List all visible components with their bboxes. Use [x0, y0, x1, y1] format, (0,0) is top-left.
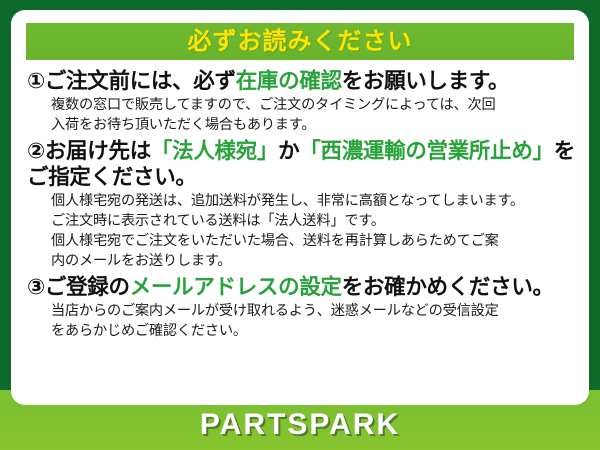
page-title: 必ずお読みください: [188, 30, 413, 54]
notice-body-line: 複数の窓口で販売してますので、ご注文のタイミングによっては、次回: [51, 95, 575, 115]
notice-marker: ③: [27, 275, 45, 299]
notice-heading: ②お届け先は「法人様宛」か「西濃運輸の営業所止め」をご指定ください。: [27, 138, 575, 190]
content-panel: 必ずお読みください ①ご注文前には、必ず在庫の確認をお願いします。複数の窓口で販…: [11, 10, 589, 405]
notice-body-line: 当店からのご案内メールが受け取れるよう、迷惑メールなどの受信設定: [51, 301, 575, 321]
notice-body-line: 内のメールをお送りします。: [51, 251, 575, 271]
notice-list: ①ご注文前には、必ず在庫の確認をお願いします。複数の窓口で販売してますので、ご注…: [11, 68, 589, 343]
notice-body-line: ご注文時に表示されている送料は「法人送料」です。: [51, 211, 575, 231]
notice-highlight-text: 在庫の確認: [236, 69, 342, 93]
notice-plain-text: をお願いします。: [342, 69, 509, 93]
notice-body-line: をあらかじめご確認ください。: [51, 321, 575, 341]
notice-plain-text: か: [278, 139, 299, 163]
notice-plain-text: ご登録の: [45, 275, 130, 299]
notice-highlight-text: 「法人様宛」: [151, 139, 278, 163]
notice-banner: PARTSPARK 必ずお読みください ①ご注文前には、必ず在庫の確認をお願いし…: [0, 0, 600, 450]
notice-heading: ①ご注文前には、必ず在庫の確認をお願いします。: [27, 68, 575, 94]
notice-body: 個人様宅宛の発送は、追加送料が発生し、非常に高額となってしまいます。ご注文時に表…: [51, 191, 575, 272]
notice-heading: ③ご登録のメールアドレスの設定をお確かめください。: [27, 274, 575, 300]
title-bar: 必ずお読みください: [26, 23, 574, 60]
notice-marker: ②: [27, 139, 45, 163]
notice-item: ③ご登録のメールアドレスの設定をお確かめください。当店からのご案内メールが受け取…: [27, 274, 575, 342]
notice-body-line: 個人様宅宛でご注文をいただいた場合、送料を再計算しあらためてご案: [51, 231, 575, 251]
notice-body-line: 入荷をお待ち頂いただく場合もあります。: [51, 115, 575, 135]
notice-highlight-text: 「西濃運輸の営業所止め」: [299, 139, 553, 163]
notice-plain-text: をお確かめください。: [342, 275, 554, 299]
notice-highlight-text: メールアドレスの設定: [130, 275, 342, 299]
brand-wordmark: PARTSPARK: [0, 408, 600, 442]
notice-plain-text: お届け先は: [45, 139, 151, 163]
notice-marker: ①: [27, 69, 45, 93]
notice-item: ①ご注文前には、必ず在庫の確認をお願いします。複数の窓口で販売してますので、ご注…: [27, 68, 575, 136]
notice-body-line: 個人様宅宛の発送は、追加送料が発生し、非常に高額となってしまいます。: [51, 191, 575, 211]
notice-body: 当店からのご案内メールが受け取れるよう、迷惑メールなどの受信設定をあらかじめご確…: [51, 301, 575, 341]
notice-plain-text: ご注文前には、必ず: [45, 69, 236, 93]
notice-body: 複数の窓口で販売してますので、ご注文のタイミングによっては、次回入荷をお待ち頂い…: [51, 95, 575, 135]
notice-item: ②お届け先は「法人様宛」か「西濃運輸の営業所止め」をご指定ください。個人様宅宛の…: [27, 138, 575, 272]
